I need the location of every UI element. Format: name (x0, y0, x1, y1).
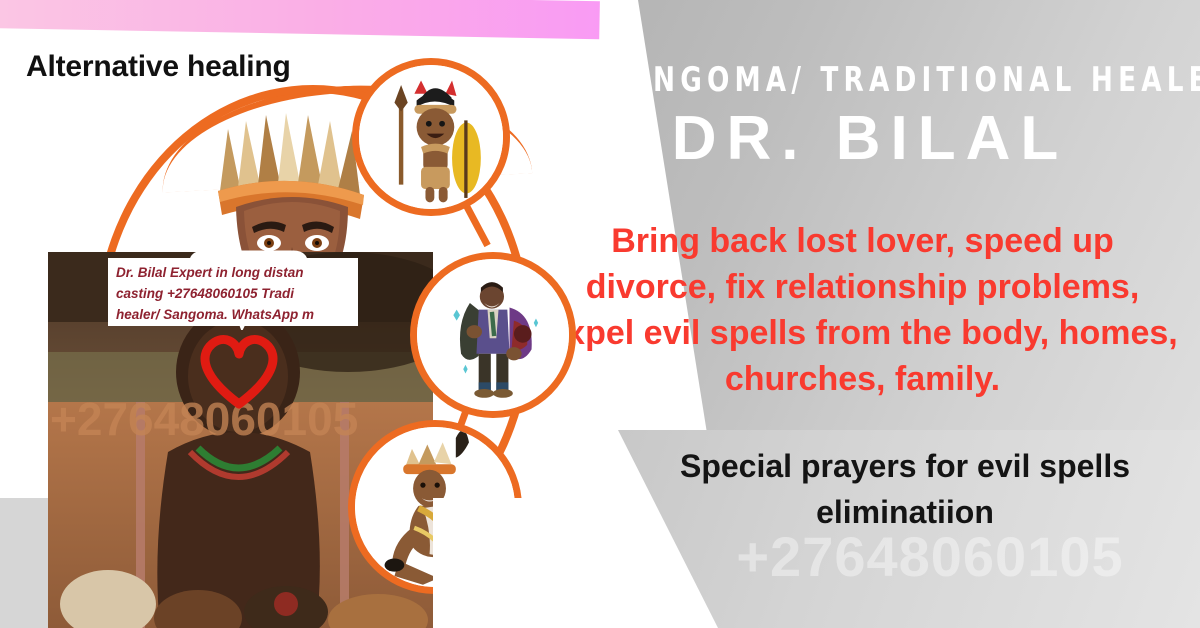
watermark-phone-right: +27648060105 (660, 524, 1200, 589)
photo-caption-line-2: casting +27648060105 Tradi (116, 283, 352, 304)
poster-canvas: SANGOMA/ TRADITIONAL HEALER DR. BILAL Br… (0, 0, 1200, 628)
photo-caption: Dr. Bilal Expert in long distan casting … (108, 258, 358, 326)
photo-caption-line-3: healer/ Sangoma. WhatsApp m (116, 304, 352, 325)
alternative-healing-headline: Alternative healing (26, 50, 291, 84)
traditional-healer-illustration (410, 252, 576, 418)
bottom-white-wedge (433, 498, 563, 628)
bottom-left-gray-strip (0, 498, 52, 628)
heart-icon (196, 330, 282, 410)
top-bar-pink (0, 0, 600, 39)
photo-caption-line-1: Dr. Bilal Expert in long distan (116, 262, 352, 283)
page-title: DR. BILAL (560, 103, 1180, 174)
services-text: Bring back lost lover, speed up divorce,… (545, 218, 1180, 402)
zulu-warrior-illustration (352, 58, 510, 216)
kicker-title: SANGOMA/ TRADITIONAL HEALER (603, 60, 1136, 100)
special-prayers-text: Special prayers for evil spells eliminat… (620, 443, 1190, 535)
